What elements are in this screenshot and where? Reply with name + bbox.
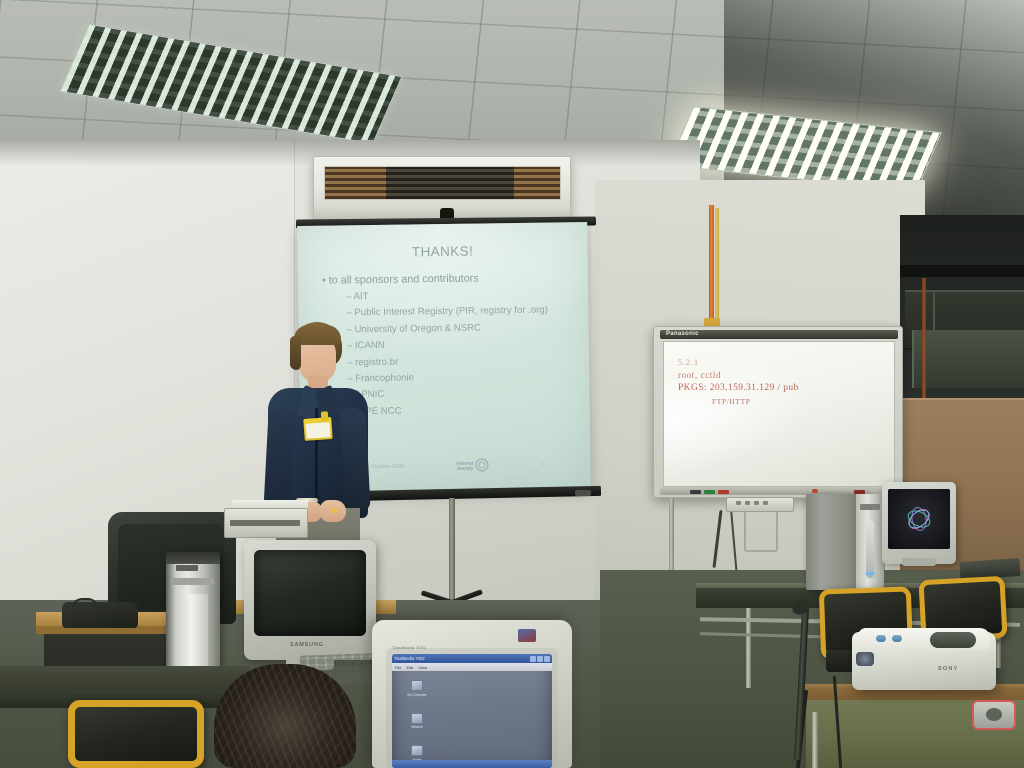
close-icon[interactable] xyxy=(544,656,550,662)
screensaver-spirograph xyxy=(897,499,941,539)
foreground-monitor-screen: TotalMedia 7002 File Edit View My Comput… xyxy=(392,654,552,768)
marker-black xyxy=(690,490,701,494)
foreground-monitor-model-label: TotalMedia 7002 xyxy=(392,645,426,650)
isoc-globe-icon xyxy=(475,458,488,471)
presenter-name-badge xyxy=(303,417,332,441)
presenter-ring xyxy=(331,508,337,513)
eraser xyxy=(854,490,865,494)
printer-button[interactable] xyxy=(736,501,741,505)
presenter-hair-side xyxy=(290,336,301,370)
window-title-bar: TotalMedia 7002 xyxy=(392,654,552,663)
projector-lens xyxy=(856,652,874,666)
isoc-wordmark: Internet Society xyxy=(456,460,473,470)
foreground-attendee-head xyxy=(214,664,356,768)
pc-right-power-button[interactable] xyxy=(812,489,818,493)
slide-bullet-text: to all sponsors and contributors xyxy=(329,273,479,287)
pc-tower-top xyxy=(166,552,220,564)
desktop-icon-label: Network xyxy=(411,725,423,729)
desktop-icon-label: My Computer xyxy=(407,693,426,697)
desktop-icon-network[interactable]: Network xyxy=(400,713,434,730)
folder-icon xyxy=(411,745,423,756)
pc-optical-drive[interactable] xyxy=(172,578,214,585)
tape-roll-center xyxy=(986,708,1002,721)
taskbar[interactable] xyxy=(392,760,552,768)
sony-brand-label: SONY xyxy=(938,666,958,672)
projector-top-vent xyxy=(930,632,976,648)
bag-handle xyxy=(72,598,98,608)
minimize-icon[interactable] xyxy=(530,656,536,662)
window-menu-bar[interactable]: File Edit View xyxy=(392,663,552,671)
pc-right-accent-strip xyxy=(866,520,874,578)
copyboard-printer-buttons[interactable] xyxy=(736,501,768,505)
whiteboard-line-4: FTP/HTTP xyxy=(712,395,799,408)
whiteboard-line-2: root, cctld xyxy=(678,369,799,382)
ac-grille-dark-section xyxy=(386,167,514,199)
whiteboard-line-1: 5.2.1 xyxy=(678,356,799,369)
background-cabinet-lower xyxy=(912,330,1024,388)
right-monitor-stand xyxy=(902,558,936,566)
printer-button[interactable] xyxy=(745,501,750,505)
sprinkler-pipe-yellow xyxy=(715,208,719,336)
front-desk-upper xyxy=(0,666,250,692)
samsung-brand-label: SAMSUNG xyxy=(290,642,324,648)
internet-society-logo: Internet Society xyxy=(456,458,488,471)
conference-room-photo: THANKS! • to all sponsors and contributo… xyxy=(0,0,1024,768)
printer-button[interactable] xyxy=(754,501,759,505)
chair-foreground xyxy=(68,700,204,768)
pc-tower-logo xyxy=(176,565,198,571)
foreground-monitor-badge xyxy=(518,629,536,642)
table-leg xyxy=(812,712,818,768)
whiteboard-line-3: PKGS: 203.159.31.129 / pub xyxy=(678,382,799,395)
copyboard-paper-tray xyxy=(744,512,778,552)
presenter-arm-left xyxy=(263,407,295,514)
marker-red xyxy=(718,490,729,494)
maximize-icon[interactable] xyxy=(537,656,543,662)
hair-texture xyxy=(214,664,356,768)
slide-page-number: 6 xyxy=(540,461,543,467)
presenter-arm-right xyxy=(339,407,370,512)
right-monitor-screen xyxy=(888,489,950,549)
window-controls[interactable] xyxy=(530,656,550,662)
dark-room-beam xyxy=(900,265,1024,277)
pc-right-optical-drive[interactable] xyxy=(860,504,880,510)
printer-button[interactable] xyxy=(763,501,768,505)
whiteboard-surface: 5.2.1 root, cctld PKGS: 203.159.31.129 /… xyxy=(663,341,895,487)
sprinkler-pipe-far xyxy=(922,278,926,398)
menu-item-edit[interactable]: Edit xyxy=(406,665,413,670)
projector-power-button[interactable] xyxy=(876,635,886,642)
network-icon xyxy=(411,713,423,724)
samsung-monitor-screen xyxy=(254,550,366,636)
chair-backrest xyxy=(68,700,204,768)
slide-item: – Public Interest Registry (PIR, registr… xyxy=(346,303,574,323)
desktop-icon-my-computer[interactable]: My Computer xyxy=(400,680,434,697)
desktop-icon-list: My Computer Network Folder xyxy=(400,680,434,762)
pipe-clamp xyxy=(704,318,720,326)
presenter-fringe xyxy=(294,325,341,345)
menu-item-view[interactable]: View xyxy=(418,665,427,670)
pc-right-power-led xyxy=(866,572,874,575)
marker-green xyxy=(704,490,715,494)
panasonic-copyboard: Panasonic 5.2.1 root, cctld PKGS: 203.15… xyxy=(653,326,903,498)
badge-insert xyxy=(306,422,331,439)
slide-title: THANKS! xyxy=(311,242,573,261)
badge-clip xyxy=(321,411,329,421)
computer-icon xyxy=(411,680,423,691)
projector-source-button[interactable] xyxy=(892,635,902,642)
isoc-line2: Society xyxy=(457,465,473,470)
printer-paper-slot xyxy=(230,520,300,526)
whiteboard-handwriting: 5.2.1 root, cctld PKGS: 203.159.31.129 /… xyxy=(678,356,799,408)
screen-bottom-knob xyxy=(575,490,591,496)
slide-item: – RIPE NCC xyxy=(348,401,576,421)
menu-item-file[interactable]: File xyxy=(395,665,401,670)
window-title: TotalMedia 7002 xyxy=(394,656,425,661)
slide-bullet-main: • to all sponsors and contributors xyxy=(322,271,574,287)
screen-tripod-pole xyxy=(449,498,455,604)
copyboard-brand-label: Panasonic xyxy=(666,331,699,337)
